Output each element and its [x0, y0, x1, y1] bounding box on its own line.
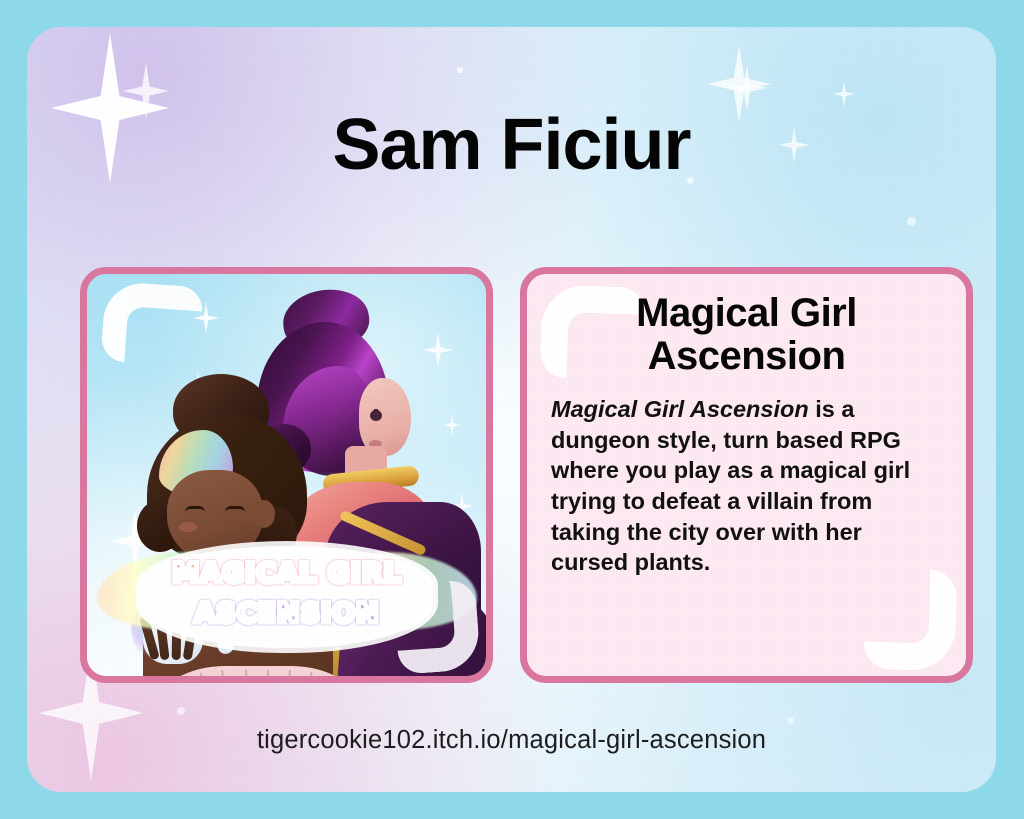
logo-line-2: ASCENSION — [103, 598, 471, 629]
decorative-blob-bottom-right — [863, 567, 957, 671]
girl-eye-left — [185, 506, 205, 515]
logo-line-1: MAGICAL GIRL — [103, 558, 471, 589]
poster-stage: Sam Ficiur — [0, 0, 1024, 819]
girl-cheek — [179, 522, 197, 532]
girl-eye-right — [225, 506, 245, 515]
bokeh-dot — [457, 67, 463, 73]
villain-face — [359, 378, 411, 456]
page-title: Sam Ficiur — [27, 109, 996, 181]
sparkle-star-icon — [833, 81, 855, 107]
main-card: Sam Ficiur — [27, 27, 996, 792]
game-name-emphasis: Magical Girl Ascension — [551, 396, 809, 422]
villain-eye — [370, 410, 382, 421]
game-description-rest: is a dungeon style, turn based RPG where… — [551, 396, 910, 575]
bokeh-dot — [907, 217, 916, 226]
game-description-card: Magical Girl Ascension Magical Girl Asce… — [520, 267, 973, 683]
game-logo: MAGICAL GIRL ASCENSION — [103, 546, 471, 656]
content-panels: MAGICAL GIRL ASCENSION Magical Girl Asce… — [80, 267, 973, 683]
girl-ear — [253, 500, 275, 528]
bokeh-dot — [787, 717, 794, 724]
game-description: Magical Girl Ascension is a dungeon styl… — [551, 394, 942, 577]
sparkle-star-icon — [727, 65, 767, 111]
bokeh-dot — [177, 707, 185, 715]
project-url[interactable]: tigercookie102.itch.io/magical-girl-asce… — [27, 726, 996, 755]
game-title: Magical Girl Ascension — [553, 292, 940, 378]
game-art-image: MAGICAL GIRL ASCENSION — [87, 274, 486, 676]
game-art-card[interactable]: MAGICAL GIRL ASCENSION — [80, 267, 493, 683]
